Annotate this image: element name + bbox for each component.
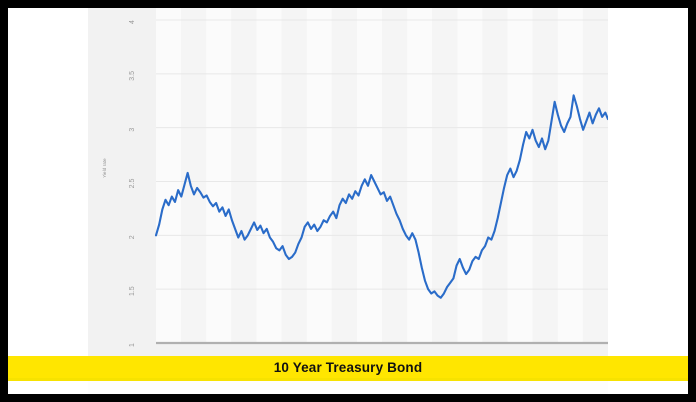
- y-axis-title: Yield rate: [102, 138, 108, 198]
- plot-background-bands: [156, 8, 608, 343]
- screenshot-frame: 43.532.521.51 Yield rate 10 Year Treasur…: [0, 0, 696, 402]
- y-axis-ticks: 43.532.521.51: [129, 20, 136, 347]
- bottom-panel-strip: [88, 381, 608, 394]
- chart-panel: 43.532.521.51 Yield rate: [88, 8, 608, 356]
- y-tick-label: 2: [129, 235, 136, 239]
- y-tick-label: 3: [129, 128, 136, 132]
- y-tick-label: 2.5: [129, 179, 136, 189]
- image-canvas: 43.532.521.51 Yield rate 10 Year Treasur…: [8, 8, 688, 394]
- y-tick-label: 1: [129, 343, 136, 347]
- y-tick-label: 3.5: [129, 71, 136, 81]
- y-tick-label: 4: [129, 20, 136, 24]
- chart-caption-text: 10 Year Treasury Bond: [274, 360, 422, 375]
- y-tick-label: 1.5: [129, 286, 136, 296]
- treasury-yield-line-chart: 43.532.521.51: [88, 8, 608, 356]
- caption-band: 10 Year Treasury Bond: [8, 356, 688, 378]
- plot-area: 43.532.521.51: [88, 8, 608, 356]
